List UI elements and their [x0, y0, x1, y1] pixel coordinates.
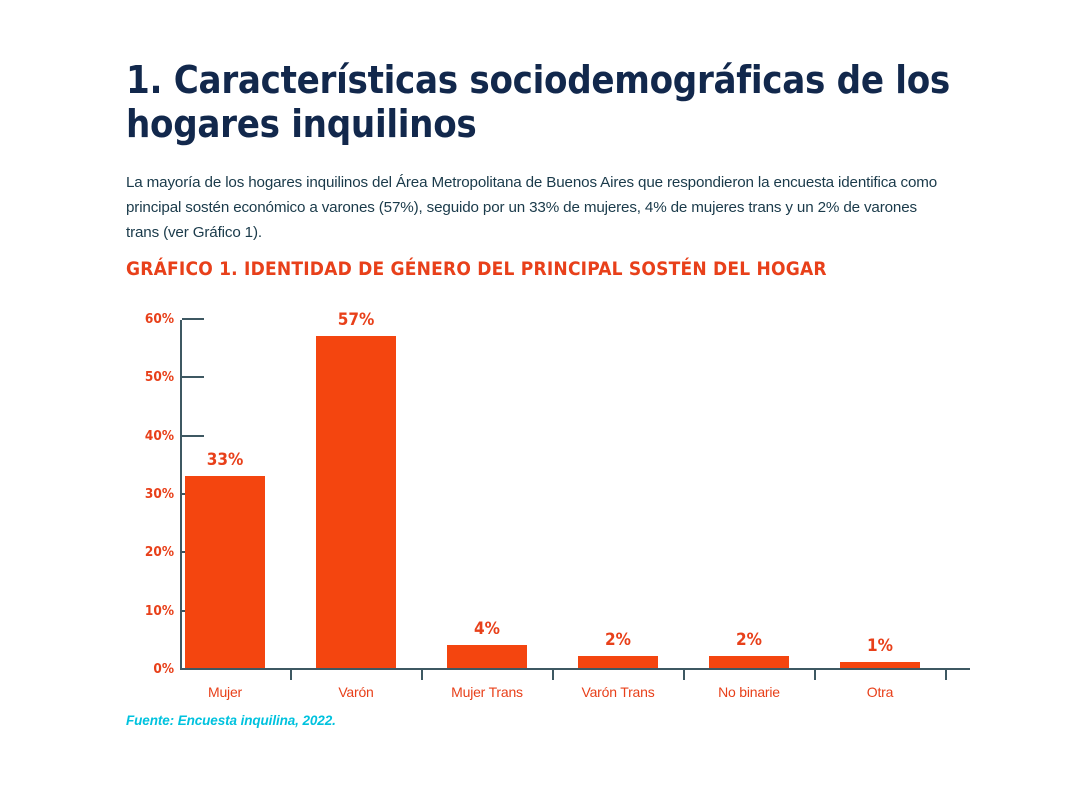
y-axis-tick [182, 376, 204, 378]
bar [709, 656, 789, 668]
bar [185, 476, 265, 669]
bar-value-label: 1% [820, 636, 940, 656]
bar-value-label: 4% [427, 619, 547, 639]
page-title: 1. Características sociodemográficas de … [126, 58, 956, 146]
bar-value-label: 57% [296, 310, 416, 330]
bar-value-label: 33% [165, 450, 285, 470]
y-axis-label: 0% [114, 661, 174, 677]
bar [840, 662, 920, 668]
bar [316, 336, 396, 669]
x-axis-tick [421, 670, 423, 680]
source-note: Fuente: Encuesta inquilina, 2022. [126, 713, 336, 728]
x-axis-tick [552, 670, 554, 680]
y-axis-line [180, 320, 182, 670]
x-axis-category-label: Mujer [155, 684, 295, 700]
x-axis-tick [290, 670, 292, 680]
y-axis-tick [182, 668, 204, 670]
x-axis-category-label: Otra [810, 684, 950, 700]
x-axis-tick [683, 670, 685, 680]
y-axis-label: 50% [114, 369, 174, 385]
intro-paragraph: La mayoría de los hogares inquilinos del… [126, 170, 938, 245]
page-root: 1. Características sociodemográficas de … [0, 0, 1080, 794]
bar-value-label: 2% [689, 630, 809, 650]
bar [447, 645, 527, 668]
chart-title: GRÁFICO 1. IDENTIDAD DE GÉNERO DEL PRINC… [126, 258, 827, 280]
x-axis-tick [814, 670, 816, 680]
y-axis-label: 40% [114, 428, 174, 444]
y-axis-tick [182, 435, 204, 437]
y-axis-label: 20% [114, 544, 174, 560]
bar [578, 656, 658, 668]
x-axis-line [180, 668, 970, 670]
chart-plot-area [180, 320, 970, 670]
bar-value-label: 2% [558, 630, 678, 650]
y-axis-label: 10% [114, 603, 174, 619]
x-axis-category-label: No binarie [679, 684, 819, 700]
x-axis-category-label: Varón [286, 684, 426, 700]
x-axis-category-label: Varón Trans [548, 684, 688, 700]
x-axis-category-label: Mujer Trans [417, 684, 557, 700]
x-axis-tick [945, 670, 947, 680]
y-axis-label: 30% [114, 486, 174, 502]
y-axis-label: 60% [114, 311, 174, 327]
y-axis-tick [182, 318, 204, 320]
